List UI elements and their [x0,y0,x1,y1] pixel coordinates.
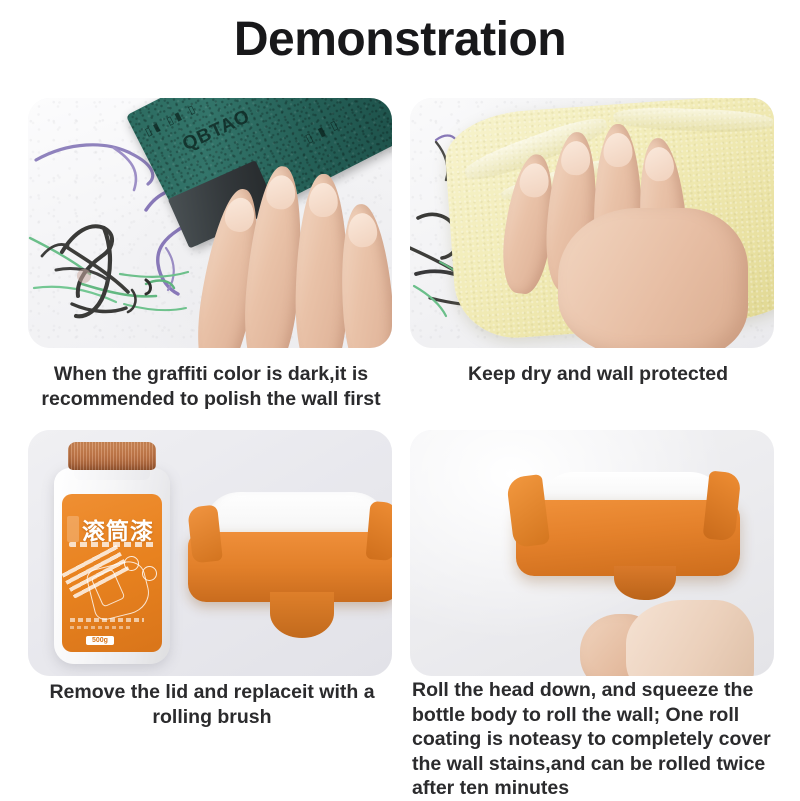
label-badge-icon [142,566,157,581]
step-2-image-cell [410,98,774,348]
finger [336,202,392,348]
fingernail [309,183,339,218]
label-footer-line [70,618,144,622]
step-3-caption: Remove the lid and replaceit with a roll… [22,680,402,730]
palm [558,208,748,348]
step-4-caption: Roll the head down, and squeeze the bott… [412,678,786,801]
fingernail [265,174,297,210]
label-side-tag [67,516,79,542]
roller-arm-left [187,505,223,564]
paint-bottle-and-roller-head-photo: 滚筒漆 500g [28,430,392,676]
bottle-cap [68,442,156,470]
step-3-image-cell: 滚筒漆 500g [28,430,392,676]
finger [294,174,350,348]
roller-arm-right [366,501,392,561]
fingernail [347,212,378,248]
label-net-weight: 500g [86,636,114,645]
rolling-paint-on-wall-photo [410,430,774,676]
label-badge-icon [124,556,139,571]
fingernail [560,140,591,176]
roller-brush-head [188,492,392,654]
label-footer-line [70,626,132,629]
page-title: Demonstration [0,12,800,67]
label-product-name: 滚筒漆 [82,512,154,546]
fingernail [223,196,257,234]
roller-stem [270,592,334,638]
step-1-image-cell: ▯▮ ▯▮ ▯ QBTAO ▮ 8 S ▯ ▮ ▯ [28,98,392,348]
step-2-caption: Keep dry and wall protected [412,362,784,387]
step-4-image-cell [410,430,774,676]
fingernail [604,133,633,167]
hand [580,584,760,676]
yellow-cloth-wiping-wall-photo [410,98,774,348]
fingernail [518,162,551,199]
bottle-label: 滚筒漆 500g [62,494,162,652]
step-1-caption: When the graffiti color is dark,it is re… [22,362,400,412]
sanding-block-on-graffiti-wall-photo: ▯▮ ▯▮ ▯ QBTAO ▮ 8 S ▯ ▮ ▯ [28,98,392,348]
fingernail [644,146,675,182]
palm [626,600,754,676]
paint-bottle: 滚筒漆 500g [48,442,176,664]
roller-arm-left [506,474,550,548]
cap-ribs [68,442,156,470]
hand [196,152,392,348]
demonstration-infographic: Demonstration [0,0,800,800]
hand [498,112,748,348]
